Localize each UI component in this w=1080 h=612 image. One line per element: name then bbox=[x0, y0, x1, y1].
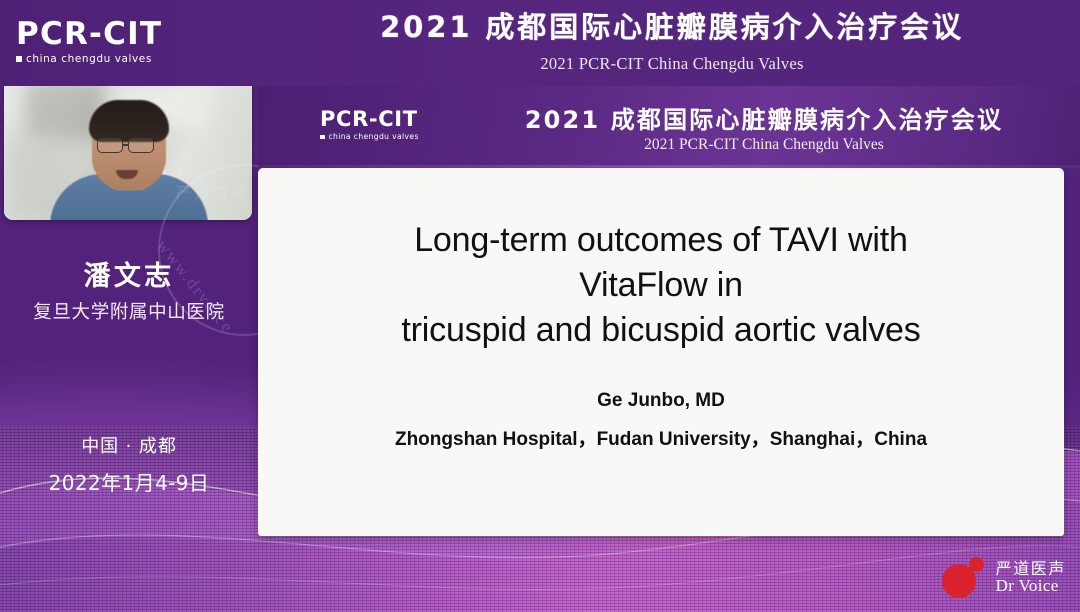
glasses-bridge-icon bbox=[123, 144, 129, 146]
slide-banner-title-english: 2021 PCR-CIT China Chengdu Valves bbox=[448, 136, 1080, 154]
banner-title-english: 2021 PCR-CIT China Chengdu Valves bbox=[264, 54, 1080, 74]
pcr-cit-logo-subtext: china chengdu valves bbox=[320, 132, 419, 141]
banner-title-chinese: 2021 成都国际心脏瓣膜病介入治疗会议 bbox=[264, 4, 1080, 46]
broadcast-screen: PCR-CIT china chengdu valves 2021 成都国际心脏… bbox=[0, 0, 1080, 612]
dr-voice-name-english: Dr Voice bbox=[996, 577, 1066, 595]
pcr-cit-logo: PCR-CIT china chengdu valves bbox=[320, 108, 419, 141]
dr-voice-name-chinese: 严道医声 bbox=[996, 560, 1066, 577]
dr-voice-logo: 严道医声 Dr Voice bbox=[942, 556, 1066, 600]
pcr-cit-logo-text: PCR-CIT bbox=[320, 108, 419, 130]
event-location: 中国 · 成都 bbox=[0, 432, 258, 458]
presentation-slide-panel[interactable]: PCR-CIT china chengdu valves 2021 成都国际心脏… bbox=[258, 86, 1080, 536]
logo-square-icon bbox=[320, 135, 325, 140]
slide-title-line-3: tricuspid and bicuspid aortic valves bbox=[298, 308, 1024, 353]
slide-author: Ge Junbo, MD bbox=[298, 390, 1024, 412]
slide-affiliation-text: Zhongshan Hospital，Fudan University，Shan… bbox=[298, 424, 1024, 451]
dr-voice-mark-icon bbox=[942, 556, 988, 600]
slide-banner-title-chinese: 2021 成都国际心脏瓣膜病介入治疗会议 bbox=[448, 100, 1080, 135]
slide-title-line-1: Long-term outcomes of TAVI with bbox=[298, 218, 1024, 263]
dr-voice-text: 严道医声 Dr Voice bbox=[996, 560, 1066, 596]
pcr-cit-logo: PCR-CIT china chengdu valves bbox=[16, 18, 162, 65]
dr-voice-small-dot-icon bbox=[969, 557, 984, 572]
speaker-video-feed[interactable] bbox=[4, 78, 252, 220]
speaker-hair bbox=[89, 100, 169, 142]
pcr-cit-logo-text: PCR-CIT bbox=[16, 18, 162, 50]
speaker-affiliation: 复旦大学附属中山医院 bbox=[0, 298, 258, 324]
slide-content-card: Long-term outcomes of TAVI with VitaFlow… bbox=[258, 168, 1064, 536]
event-top-banner: PCR-CIT china chengdu valves 2021 成都国际心脏… bbox=[0, 0, 1080, 86]
speaker-name: 潘文志 bbox=[0, 254, 258, 293]
slide-header-banner: PCR-CIT china chengdu valves 2021 成都国际心脏… bbox=[258, 86, 1080, 168]
logo-square-icon bbox=[16, 56, 22, 62]
pcr-cit-logo-subtext: china chengdu valves bbox=[16, 53, 162, 65]
speaker-sidebar: 严道医声 www.drvoice 潘文志 复旦大学附属中山医院 中国 · 成都 … bbox=[0, 86, 258, 612]
glasses-left-lens-icon bbox=[97, 138, 123, 153]
event-date: 2022年1月4-9日 bbox=[0, 467, 258, 496]
slide-title-line-2: VitaFlow in bbox=[298, 263, 1024, 308]
slide-title: Long-term outcomes of TAVI with VitaFlow… bbox=[298, 218, 1024, 353]
glasses-right-lens-icon bbox=[128, 138, 154, 153]
